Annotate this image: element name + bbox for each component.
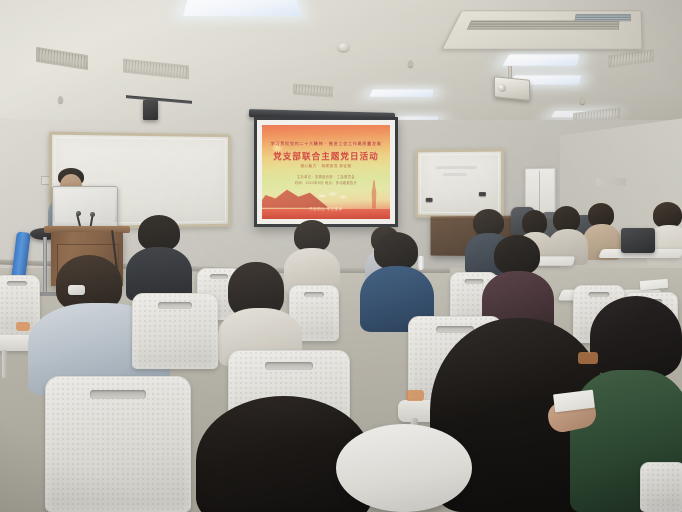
ac-vent-louver: [574, 14, 631, 21]
water-bottle[interactable]: [418, 256, 424, 270]
chair-handle[interactable]: [589, 292, 610, 297]
slide-line-1: 主办单位：党委组织部 · 工会委员会: [262, 174, 390, 179]
panel-seam: [539, 171, 540, 216]
chair[interactable]: [132, 293, 218, 369]
whiteboard-marker[interactable]: [479, 192, 486, 196]
slide-doves-graphic: [318, 192, 348, 200]
chair-handle[interactable]: [158, 302, 192, 309]
monitor-screen: [55, 189, 115, 222]
chair-leg: [2, 350, 7, 378]
whiteboard-marking: [443, 173, 467, 176]
ceiling-light-panel: [369, 89, 433, 96]
projection-screen[interactable]: 学习贯彻党的二十大精神 · 推进工会工作高质量发展 党支部联合主题党日活动 凝心…: [254, 117, 398, 227]
speaker-icon: [143, 100, 158, 120]
projected-slide: 学习贯彻党的二十大精神 · 推进工会工作高质量发展 党支部联合主题党日活动 凝心…: [262, 125, 390, 219]
white-round-table: [336, 424, 472, 512]
ac-vent-louver: [467, 21, 620, 30]
whiteboard-small: [415, 149, 504, 219]
seat-cushion: [406, 390, 424, 401]
chair-backrest: [640, 462, 682, 512]
whiteboard-marker[interactable]: [426, 198, 433, 202]
black-backpack[interactable]: [621, 228, 655, 253]
sprinkler-head: [580, 97, 585, 104]
person-hair: [494, 235, 540, 275]
presenter-monitor[interactable]: [52, 186, 118, 230]
projector-lens: [498, 84, 506, 93]
chair[interactable]: [640, 462, 682, 512]
hair-clip: [68, 285, 85, 295]
wall-sign: [596, 178, 626, 186]
sprinkler-head: [58, 96, 63, 103]
microphone-head: [76, 211, 81, 216]
chair-handle[interactable]: [265, 362, 313, 370]
slide-footer-text: 不忘初心 牢记使命: [262, 206, 390, 211]
seat-cushion: [578, 352, 598, 364]
microphone-head: [90, 212, 95, 217]
ceiling-projector: [494, 76, 530, 101]
whiteboard-surface: [420, 154, 499, 214]
stool-post: [43, 237, 47, 295]
ceiling-light-panel: [183, 0, 301, 16]
chair-handle[interactable]: [304, 292, 324, 297]
chair-handle[interactable]: [7, 281, 27, 286]
chair-handle[interactable]: [210, 274, 228, 279]
ceiling-light-panel: [503, 55, 579, 66]
chair-handle[interactable]: [465, 279, 484, 284]
person-hair: [590, 296, 682, 378]
slide-line-2: 时间：2023年9月 地点：多功能报告厅: [262, 180, 390, 185]
person-hair: [473, 209, 504, 236]
person-hair: [138, 215, 180, 251]
smoke-detector: [338, 43, 349, 51]
conference-room-photo: 学习贯彻党的二十大精神 · 推进工会工作高质量发展 党支部联合主题党日活动 凝心…: [0, 0, 682, 512]
ceiling-cassette-air-conditioner: [441, 11, 642, 50]
whiteboard-marking: [435, 166, 476, 169]
slide-subtitle-text: 凝心聚力 · 砥砺奋进 新征程: [262, 164, 390, 169]
sprinkler-head: [408, 60, 413, 67]
slide-title-text: 党支部联合主题党日活动: [262, 150, 390, 162]
chair[interactable]: [45, 376, 191, 512]
chair-handle[interactable]: [90, 390, 146, 399]
person-hair: [374, 232, 418, 270]
slide-eyebrow-text: 学习贯彻党的二十大精神 · 推进工会工作高质量发展: [262, 141, 390, 147]
seat-cushion: [16, 322, 30, 331]
